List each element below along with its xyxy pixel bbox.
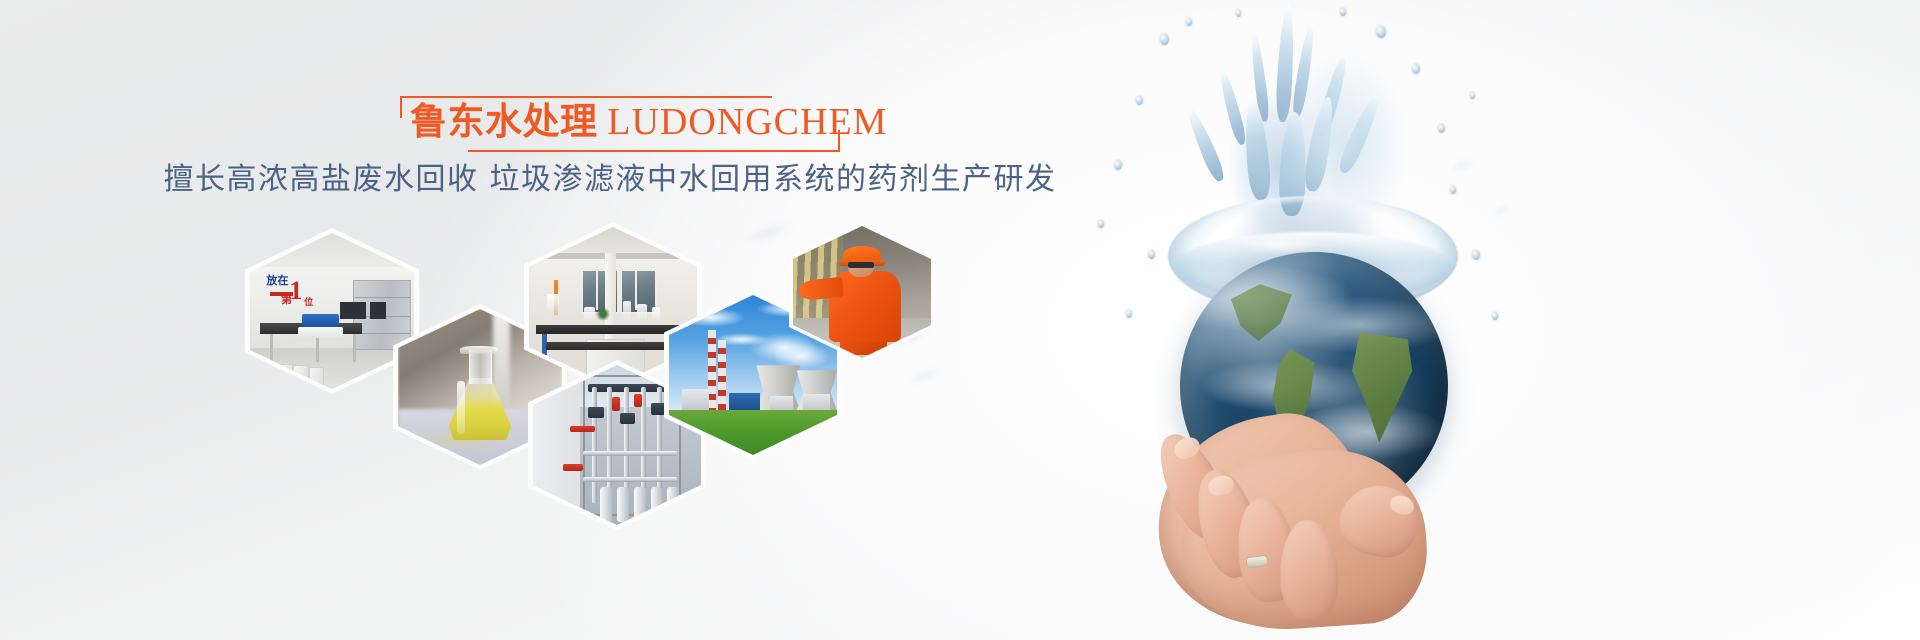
valve-cluster: [620, 413, 635, 424]
red-valve-handle: [634, 394, 642, 407]
membrane-vessel: [600, 487, 612, 522]
hexagon-photo-cluster: 放在 第 1 位: [0, 0, 1000, 640]
glassware: [637, 304, 647, 323]
control-panel: [370, 302, 386, 319]
water-droplet: [1136, 96, 1143, 105]
highlight-glint: [1236, 236, 1326, 254]
plant-building: [803, 394, 830, 410]
water-droplet: [1340, 8, 1346, 16]
red-valve-handle: [570, 426, 595, 432]
water-droplet: [1186, 18, 1192, 26]
water-droplet: [1098, 220, 1104, 228]
lab-bench-lower: [546, 342, 670, 350]
glassware: [623, 301, 631, 323]
plant-building: [770, 396, 794, 410]
valve-cluster: [588, 407, 603, 418]
white-equipment: [298, 327, 344, 338]
water-droplet: [1236, 10, 1241, 17]
flask-lip: [460, 346, 498, 354]
riser-pipe: [592, 387, 597, 502]
wall-slogan-cn: 放在: [266, 272, 288, 288]
water-droplet: [1148, 250, 1155, 259]
cross-header: [583, 451, 677, 456]
valve-cluster: [651, 403, 666, 414]
water-droplet: [1114, 160, 1122, 170]
hero-banner: 鲁东水处理 LUDONGCHEM 擅长高浓高盐废水回收 垃圾渗滤液中水回用系统的…: [0, 0, 1920, 640]
plant-building: [682, 389, 709, 410]
finger-ring: [1245, 555, 1268, 568]
control-panel: [340, 302, 366, 319]
water-droplet: [1450, 186, 1456, 194]
glassware: [584, 307, 594, 323]
potted-plant: [596, 307, 609, 321]
wall-slogan-suffix: 位: [304, 295, 313, 308]
red-valve-handle: [612, 397, 620, 411]
flask-neck: [469, 350, 492, 384]
membrane-vessel: [651, 487, 663, 522]
chimney-stack: [718, 340, 726, 410]
wall-slogan-rank: 1: [289, 278, 302, 304]
water-globe-hero: [1040, 0, 1620, 640]
water-droplet: [1470, 92, 1475, 99]
water-droplet: [1376, 26, 1386, 38]
water-droplet: [1412, 64, 1420, 74]
red-valve-handle: [563, 464, 583, 470]
water-droplet: [1472, 250, 1480, 260]
safety-glasses-icon: [848, 262, 874, 269]
plant-building: [729, 393, 759, 411]
glassware: [547, 294, 559, 315]
lab-bench: [536, 325, 680, 335]
water-droplet: [1126, 310, 1132, 318]
water-droplet: [1438, 124, 1445, 133]
glassware: [652, 307, 660, 323]
membrane-vessel: [617, 487, 629, 522]
water-droplet: [1492, 312, 1498, 320]
cross-header: [583, 477, 677, 482]
water-droplet: [1160, 34, 1169, 45]
riser-pipe: [624, 387, 629, 502]
